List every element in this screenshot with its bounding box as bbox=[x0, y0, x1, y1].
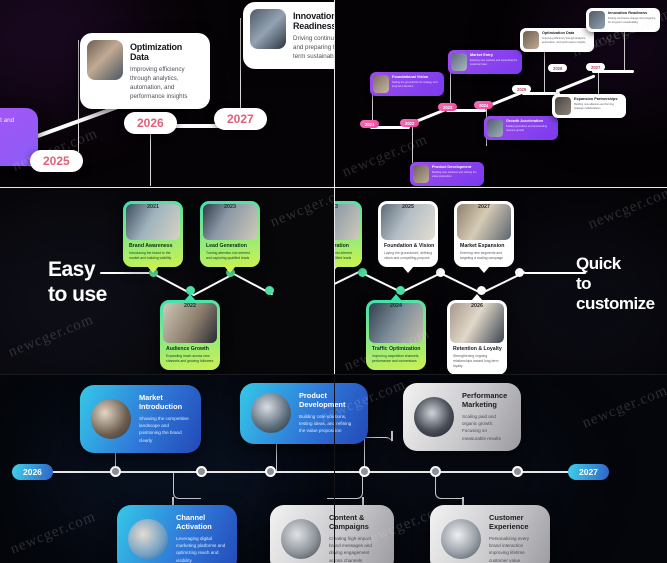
milestone-card-foundation-vision[interactable]: 2025 Foundation & Vision Laying the grou… bbox=[378, 201, 438, 267]
card-year: 2026 bbox=[471, 303, 483, 309]
card-title: Brand Awareness bbox=[129, 243, 180, 249]
card-avatar bbox=[414, 397, 454, 437]
mini-year-pill-2027[interactable]: 2027 bbox=[586, 63, 605, 71]
milestone-card-market-introduction[interactable]: Market Introduction Showing the competit… bbox=[80, 385, 201, 453]
watermark: newcger.com bbox=[580, 383, 667, 433]
card-description: Setting the groundwork for strategy and … bbox=[392, 81, 441, 89]
card-image bbox=[163, 303, 217, 343]
card-title: Growth Acceleration bbox=[506, 119, 555, 124]
card-tail bbox=[402, 266, 414, 273]
card-description: Driving continuous change and preparing … bbox=[293, 35, 334, 62]
timeline-node[interactable] bbox=[265, 286, 274, 295]
mini-year-pill-2025[interactable]: 2025 bbox=[512, 85, 531, 93]
card-tail bbox=[390, 294, 402, 301]
card-thumbnail bbox=[523, 31, 539, 49]
card-description: Building core solutions, testing ideas, … bbox=[299, 413, 357, 435]
card-description: Personalizing every brand interaction im… bbox=[489, 535, 539, 563]
card-thumbnail bbox=[250, 9, 286, 49]
year-pill-2026[interactable]: 2026 bbox=[124, 112, 177, 134]
card-description: Scaling operations and accelerating reve… bbox=[506, 125, 555, 133]
mini-card-optimization-data[interactable]: Optimization Data Improving efficiency t… bbox=[520, 28, 594, 52]
card-year: 2022 bbox=[184, 303, 196, 309]
timeline-dot[interactable] bbox=[430, 466, 441, 477]
card-avatar bbox=[281, 519, 321, 559]
card-description: Improving acquisition channels, performa… bbox=[372, 354, 422, 364]
timeline-node[interactable] bbox=[358, 268, 367, 277]
card-description: Turning attention into interest and capt… bbox=[334, 251, 358, 261]
card-year: 2023 bbox=[224, 204, 236, 210]
card-title: Expansion Partnerships bbox=[574, 97, 623, 102]
panel-middle-left: Easy to use 2021 Brand Awareness Introdu… bbox=[0, 188, 334, 374]
connector-stem bbox=[240, 18, 241, 114]
card-avatar bbox=[251, 393, 291, 433]
watermark: newcger.com bbox=[6, 312, 96, 362]
timeline-dot[interactable] bbox=[196, 466, 207, 477]
panel-top-left: ...market and ...omer 2025 2026 2027 Opt… bbox=[0, 0, 334, 187]
milestone-card-brand-awareness[interactable]: 2021 Brand Awareness Introducing the bra… bbox=[123, 201, 183, 267]
card-description: Leveraging digital marketing platforms a… bbox=[176, 535, 226, 563]
card-title: Market Introduction bbox=[139, 394, 190, 412]
card-title: Market Expansion bbox=[460, 243, 511, 249]
milestone-card-product-development[interactable]: Product Development Building core soluti… bbox=[240, 383, 368, 444]
milestone-card-lead-generation[interactable]: 2023 Lead Generation Turning attention i… bbox=[334, 201, 362, 267]
year-badge-end[interactable]: 2027 bbox=[568, 464, 609, 480]
card-description: Building new alliances and forming strat… bbox=[574, 103, 623, 111]
year-badge-start[interactable]: 2026 bbox=[12, 464, 53, 480]
headline-quick-to-customize: Quick to customize bbox=[576, 254, 667, 314]
milestone-card-customer-experience[interactable]: Customer Experience Personalizing every … bbox=[430, 505, 550, 563]
card-description: Strengthening ongoing relationships towa… bbox=[453, 354, 503, 369]
mini-year-pill-2021[interactable]: 2021 bbox=[360, 120, 379, 128]
milestone-card-performance-marketing[interactable]: Performance Marketing Scaling paid and o… bbox=[403, 383, 521, 451]
milestone-card-content-campaigns[interactable]: Content & Campaigns Creating high-impact… bbox=[270, 505, 394, 563]
panel-divider-vertical bbox=[334, 375, 335, 563]
card-description: Entering new markets and expanding the c… bbox=[470, 59, 519, 67]
card-title: Content & Campaigns bbox=[329, 514, 383, 532]
card-thumbnail bbox=[555, 97, 571, 115]
mini-card-expansion-partnerships[interactable]: Expansion Partnerships Building new alli… bbox=[552, 94, 626, 118]
timeline-node[interactable] bbox=[436, 268, 445, 277]
timeline-dot[interactable] bbox=[110, 466, 121, 477]
card-year: 2025 bbox=[402, 204, 414, 210]
screenshot-root: ...market and ...omer 2025 2026 2027 Opt… bbox=[0, 0, 667, 563]
mini-timeline-segment bbox=[555, 74, 595, 93]
card-avatar bbox=[441, 519, 481, 559]
card-image bbox=[369, 303, 423, 343]
card-description: Laying the groundwork, defining vision a… bbox=[384, 251, 434, 261]
watermark: newcger.com bbox=[268, 188, 334, 231]
card-year: 2024 bbox=[390, 303, 402, 309]
card-title: Market Entry bbox=[470, 53, 519, 58]
card-thumbnail bbox=[413, 165, 429, 183]
watermark: newcger.com bbox=[8, 509, 98, 559]
timeline-dot[interactable] bbox=[512, 466, 523, 477]
card-avatar bbox=[128, 519, 168, 559]
mini-card-product-development[interactable]: Product Development Building core soluti… bbox=[410, 162, 484, 186]
card-title: Foundational Vision bbox=[392, 75, 441, 80]
card-description: Turning attention into interest and capt… bbox=[206, 251, 256, 261]
card-title: Lead Generation bbox=[334, 243, 359, 249]
card-title: Foundation & Vision bbox=[384, 243, 435, 249]
milestone-card-market-expansion[interactable]: 2027 Market Expansion Entering new segme… bbox=[454, 201, 514, 267]
card-description: Creating high-impact brand messages and … bbox=[329, 535, 383, 563]
mini-card-foundational-vision[interactable]: Foundational Vision Setting the groundwo… bbox=[370, 72, 444, 96]
card-avatar bbox=[91, 399, 131, 439]
year-pill-2027[interactable]: 2027 bbox=[214, 108, 267, 130]
card-title: Innovation Readiness bbox=[293, 11, 334, 32]
card-year: 2027 bbox=[478, 204, 490, 210]
card-description: Expanding reach across new channels and … bbox=[166, 354, 216, 364]
card-title: Retention & Loyalty bbox=[453, 346, 504, 352]
card-thumbnail bbox=[487, 119, 503, 137]
timeline-rail bbox=[52, 471, 580, 473]
card-tail bbox=[471, 294, 483, 301]
milestone-card-retention-loyalty[interactable]: 2026 Retention & Loyalty Strengthening o… bbox=[447, 300, 507, 374]
milestone-card-traffic-optimization[interactable]: 2024 Traffic Optimization Improving acqu… bbox=[366, 300, 426, 370]
card-tail bbox=[478, 266, 490, 273]
card-title: Product Development bbox=[432, 165, 481, 170]
card-description: Entering new segments and targeting a sc… bbox=[460, 251, 510, 261]
card-title: Optimization Data bbox=[130, 42, 203, 63]
card-description: Scaling paid and organic growth. Focusin… bbox=[462, 413, 510, 442]
timeline-dot[interactable] bbox=[359, 466, 370, 477]
year-pill-2025[interactable]: 2025 bbox=[30, 150, 83, 172]
card-description: Improving efficiency through analytics, … bbox=[542, 37, 591, 45]
headline-easy-to-use: Easy to use bbox=[48, 258, 107, 308]
mini-card-innovation-readiness[interactable]: Innovation Readiness Driving continuous … bbox=[586, 8, 660, 32]
purple-info-card-desc: ...market and ...omer bbox=[0, 116, 29, 136]
panel-top-right: 2021 2022 2023 2024 2025 2026 2027 Found… bbox=[334, 0, 667, 187]
connector-elbow bbox=[364, 437, 392, 471]
milestone-card-channel-activation[interactable]: Channel Activation Leveraging digital ma… bbox=[117, 505, 237, 563]
panel-divider-vertical bbox=[334, 0, 335, 187]
card-title: Audience Growth bbox=[166, 346, 217, 352]
mini-card-growth-acceleration[interactable]: Growth Acceleration Scaling operations a… bbox=[484, 116, 558, 140]
card-thumbnail bbox=[373, 75, 389, 93]
card-tail bbox=[184, 294, 196, 301]
mini-year-pill-2022[interactable]: 2022 bbox=[400, 119, 419, 127]
connector-elbow bbox=[391, 431, 393, 441]
card-title: Innovation Readiness bbox=[608, 11, 657, 16]
milestone-card-lead-generation[interactable]: 2023 Lead Generation Turning attention i… bbox=[200, 201, 260, 267]
connector-stem bbox=[412, 127, 413, 163]
panel-divider-vertical bbox=[334, 188, 335, 374]
card-thumbnail bbox=[589, 11, 605, 29]
card-thumbnail bbox=[87, 40, 123, 80]
card-title: Lead Generation bbox=[206, 243, 257, 249]
card-title: Performance Marketing bbox=[462, 392, 510, 410]
card-thumbnail bbox=[451, 53, 467, 71]
headline-line-1: Quick bbox=[576, 254, 667, 274]
card-description: Driving continuous change and preparing … bbox=[608, 17, 657, 25]
card-title: Traffic Optimization bbox=[372, 346, 423, 352]
milestone-card-audience-growth[interactable]: 2022 Audience Growth Expanding reach acr… bbox=[160, 300, 220, 370]
mini-year-pill-2023[interactable]: 2023 bbox=[438, 103, 457, 111]
connector-elbow bbox=[327, 473, 363, 499]
card-year: 2021 bbox=[147, 204, 159, 210]
card-tail bbox=[224, 266, 236, 273]
mini-year-pill-2026[interactable]: 2026 bbox=[548, 64, 567, 72]
card-title: Optimization Data bbox=[542, 31, 591, 36]
card-description: Improving efficiency through analytics, … bbox=[130, 66, 203, 102]
connector-elbow bbox=[173, 473, 201, 499]
mini-card-market-entry[interactable]: Market Entry Entering new markets and ex… bbox=[448, 50, 522, 74]
watermark: newcger.com bbox=[586, 188, 667, 233]
connector-stem bbox=[150, 128, 151, 186]
milestone-card-optimization-data[interactable]: Optimization Data Improving efficiency t… bbox=[80, 33, 210, 109]
card-tail bbox=[147, 266, 159, 273]
timeline-node[interactable] bbox=[515, 268, 524, 277]
headline-line-1: Easy bbox=[48, 258, 107, 283]
card-image bbox=[450, 303, 504, 343]
headline-line-2: to customize bbox=[576, 274, 667, 314]
card-description: Introducing the brand to the market and … bbox=[129, 251, 179, 261]
card-description: Showing the competitive landscape and po… bbox=[139, 415, 190, 444]
panel-middle-right: Quick to customize 2023 Lead Generation … bbox=[334, 188, 667, 374]
headline-line-2: to use bbox=[48, 283, 107, 308]
card-title: Customer Experience bbox=[489, 514, 539, 532]
card-description: Building core solutions and refining the… bbox=[432, 171, 481, 179]
mini-year-pill-2024[interactable]: 2024 bbox=[474, 101, 493, 109]
connector-elbow bbox=[435, 473, 463, 499]
card-title: Channel Activation bbox=[176, 514, 226, 532]
milestone-card-innovation-readiness[interactable]: Innovation Readiness Driving continuous … bbox=[243, 2, 334, 69]
card-title: Product Development bbox=[299, 392, 357, 410]
timeline-dot[interactable] bbox=[265, 466, 276, 477]
